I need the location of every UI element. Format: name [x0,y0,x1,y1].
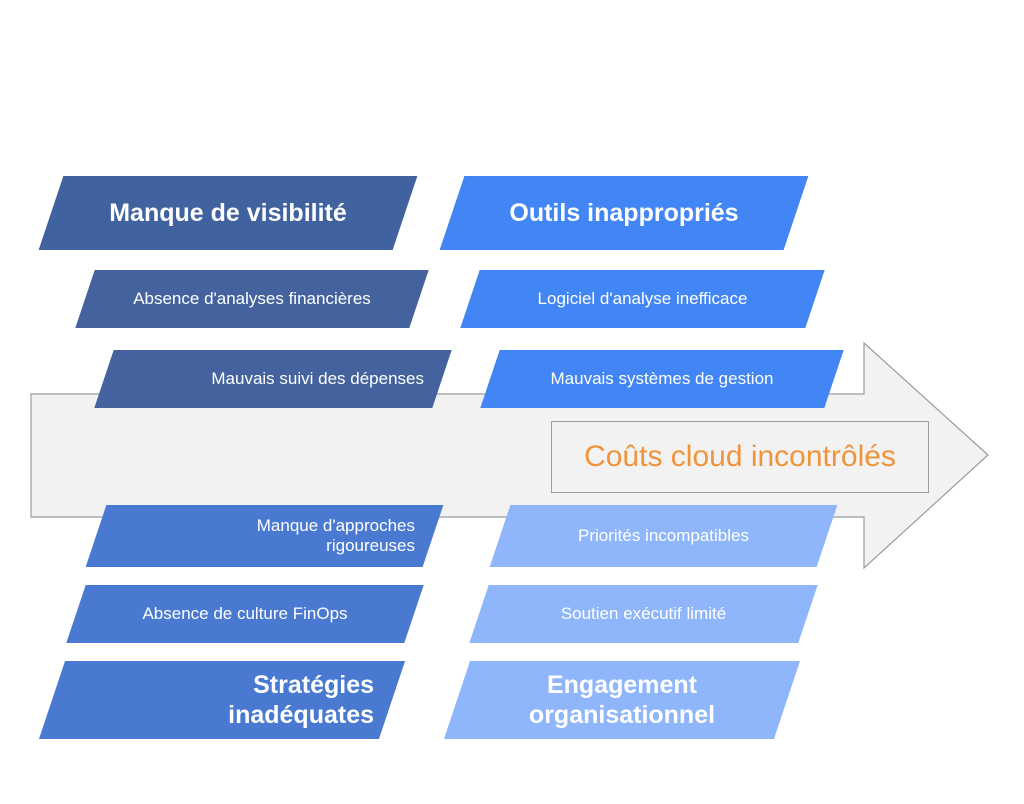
cause-label: Absence d'analyses financières [133,289,371,308]
fishbone-diagram: Manque de visibilité Absence d'analyses … [0,0,1024,804]
cause-bar-manque-d-approches-rigoureuses[interactable]: Manque d'approches rigoureuses [96,505,433,567]
cause-bar-priorites-incompatibles[interactable]: Priorités incompatibles [500,505,827,567]
cause-bar-soutien-executif-limite[interactable]: Soutien exécutif limité [479,585,808,643]
category-heading-line1: Engagement [547,671,697,699]
cause-bar-logiciel-d-analyse-inefficace[interactable]: Logiciel d'analyse inefficace [470,270,815,328]
category-heading-label: Outils inappropriés [509,199,738,227]
cause-label-line1: Manque d'approches [257,516,415,535]
cause-bar-strategies-inadequates[interactable]: Stratégies inadéquates [52,661,392,739]
cause-label: Mauvais systèmes de gestion [551,369,774,388]
cause-bar-absence-de-culture-finops[interactable]: Absence de culture FinOps [76,585,414,643]
effect-box[interactable]: Coûts cloud incontrôlés [551,421,929,493]
cause-label: Mauvais suivi des dépenses [211,369,424,388]
category-heading-line2: inadéquates [228,701,374,729]
cause-label: Absence de culture FinOps [142,604,347,623]
cause-bar-mauvais-suivi-des-depenses[interactable]: Mauvais suivi des dépenses [104,350,442,408]
category-heading-line2: organisationnel [529,701,715,729]
cause-bar-outils-inappropries[interactable]: Outils inappropriés [452,176,796,250]
effect-label: Coûts cloud incontrôlés [584,440,896,474]
cause-bar-engagement-organisationnel[interactable]: Engagement organisationnel [457,661,787,739]
cause-label: Priorités incompatibles [578,526,749,545]
cause-bar-mauvais-systemes-de-gestion[interactable]: Mauvais systèmes de gestion [490,350,834,408]
cause-bar-manque-de-visibilite[interactable]: Manque de visibilité [51,176,405,250]
cause-label: Soutien exécutif limité [561,604,726,623]
cause-label-line2: rigoureuses [326,536,415,555]
cause-label: Logiciel d'analyse inefficace [538,289,748,308]
category-heading-label: Manque de visibilité [109,199,347,227]
cause-bar-absence-d-analyses-financieres[interactable]: Absence d'analyses financières [85,270,419,328]
category-heading-line1: Stratégies [253,671,374,699]
